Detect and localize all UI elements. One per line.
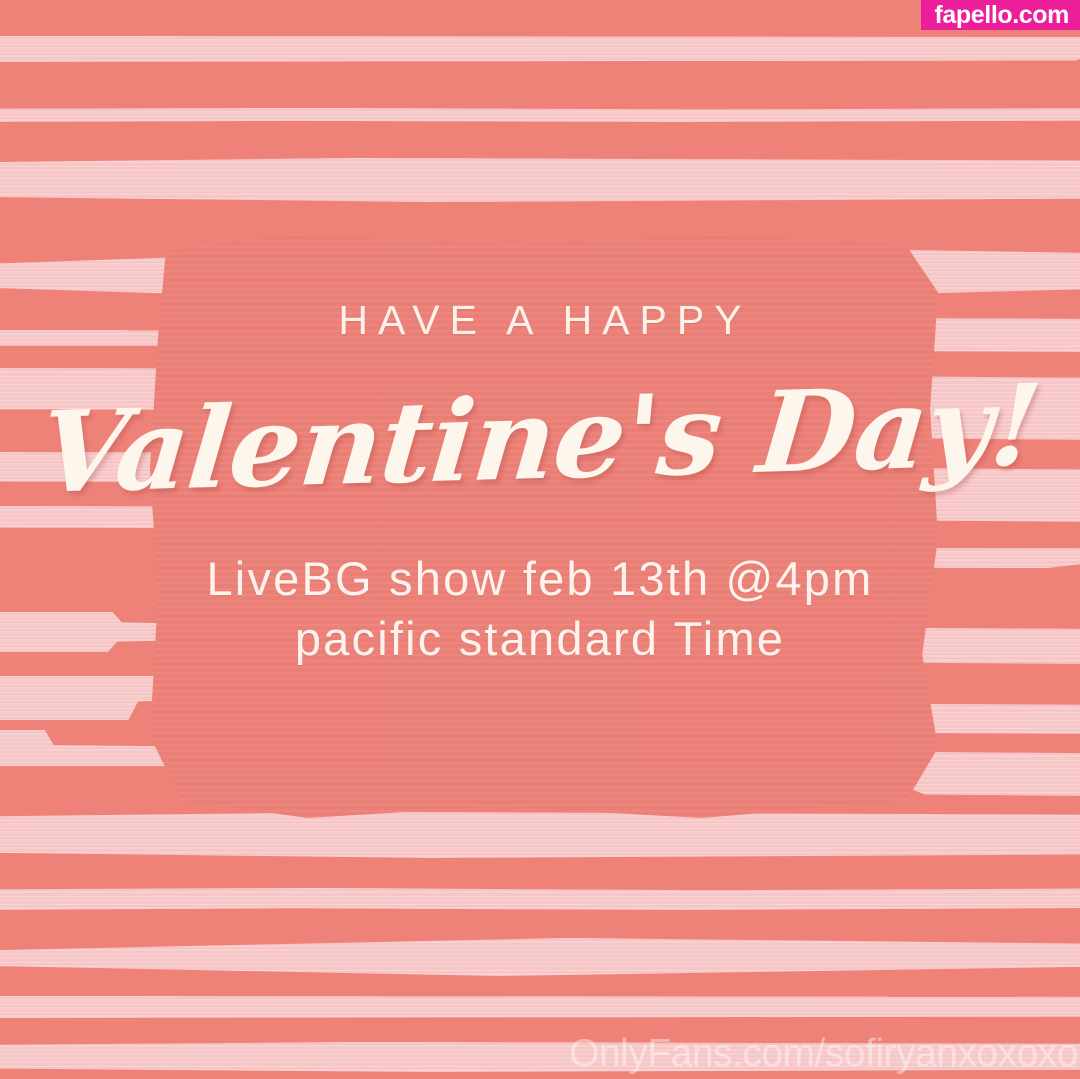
background-stripe [0, 938, 1080, 976]
valentines-day-poster: HAVE A HAPPY Valentine's Day! LiveBG sho… [0, 0, 1080, 1079]
background-stripe [0, 812, 1080, 858]
background-stripe [0, 888, 1080, 910]
background-stripe [0, 996, 1080, 1018]
poster-subline-line-1: LiveBG show feb 13th @4pm [0, 549, 1080, 609]
poster-subline: LiveBG show feb 13th @4pm pacific standa… [0, 549, 1080, 669]
poster-eyebrow: HAVE A HAPPY [0, 300, 1080, 341]
background-stripe [0, 36, 1080, 62]
onlyfans-watermark: OnlyFans.com/sofiryanxoxoxo [569, 1034, 1078, 1073]
background-stripe [0, 108, 1080, 122]
poster-subline-line-2: pacific standard Time [0, 609, 1080, 669]
poster-headline: Valentine's Day! [0, 368, 1080, 512]
fapello-watermark-badge[interactable]: fapello.com [921, 0, 1080, 30]
background-stripe [0, 158, 1080, 202]
poster-text-block: HAVE A HAPPY Valentine's Day! LiveBG sho… [0, 300, 1080, 670]
